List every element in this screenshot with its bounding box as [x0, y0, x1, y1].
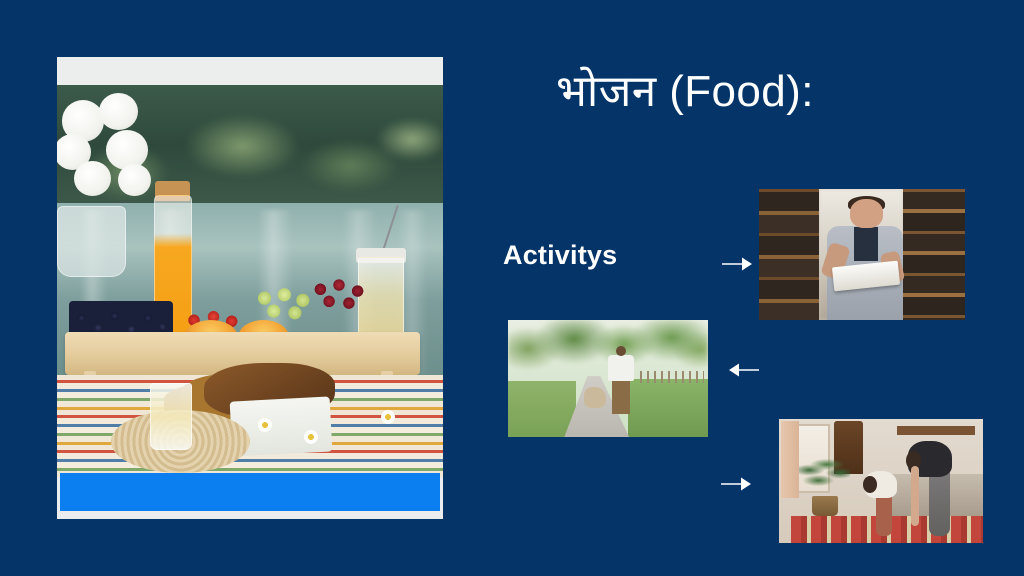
- flower-vase: [57, 206, 126, 277]
- wall-shelf: [897, 426, 975, 435]
- lemonade-jar: [150, 383, 192, 450]
- photo-yoga[interactable]: [779, 419, 983, 543]
- red-grapes: [308, 273, 370, 316]
- adult-stretching: [897, 441, 958, 535]
- adult-arm: [911, 466, 919, 526]
- dog: [584, 387, 606, 408]
- park-grass-left: [508, 381, 576, 437]
- reader-head: [850, 199, 883, 228]
- food-image-card[interactable]: [57, 57, 443, 519]
- curtain: [781, 421, 799, 498]
- park-fence: [640, 371, 704, 383]
- food-picnic-photo: [57, 85, 443, 477]
- card-top-band: [57, 57, 443, 85]
- green-grapes: [250, 281, 316, 324]
- plant-pot: [812, 496, 839, 516]
- card-accent-bar: [60, 473, 440, 511]
- reader-shirt: [854, 227, 879, 261]
- slide-canvas: भोजन (Food): Activitys: [0, 0, 1024, 576]
- child-stretching: [861, 471, 902, 535]
- page-title: भोजन (Food):: [556, 62, 814, 121]
- walker-legs: [612, 379, 630, 414]
- activitys-label: Activitys: [503, 240, 617, 271]
- arrow-left-icon: [727, 357, 761, 383]
- bookshelf-right: [903, 189, 965, 320]
- bookshelf-left: [759, 189, 819, 320]
- photo-library[interactable]: [759, 189, 965, 320]
- walker-shirt: [608, 355, 634, 381]
- child-head: [863, 476, 877, 493]
- park-grass-right: [628, 379, 708, 438]
- arrow-right-icon: [719, 471, 753, 497]
- arrow-right-icon: [720, 251, 754, 277]
- daisy-flower-a: [258, 418, 272, 432]
- daisy-flower-b: [304, 430, 318, 444]
- photo-walking[interactable]: [508, 320, 708, 437]
